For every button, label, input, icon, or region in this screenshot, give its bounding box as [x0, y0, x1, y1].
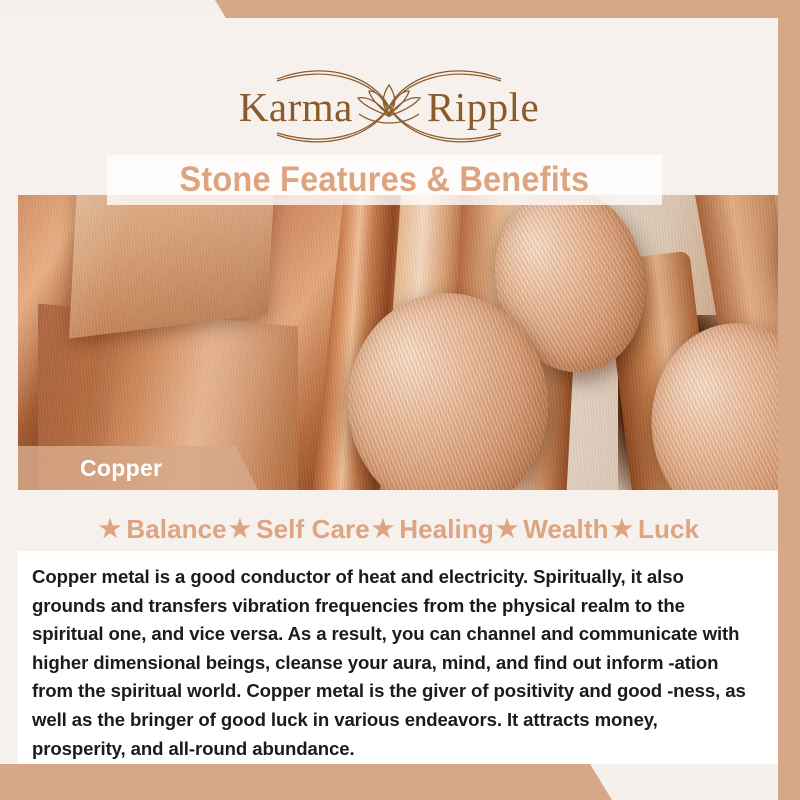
feature-label: Luck	[638, 514, 699, 545]
feature-item-balance: ★ Balance	[97, 514, 227, 545]
copper-rods-photo: Copper	[18, 195, 778, 490]
description-panel: Copper metal is a good conductor of heat…	[18, 551, 778, 764]
description-text: Copper metal is a good conductor of heat…	[32, 563, 756, 763]
page-title: Stone Features & Benefits	[180, 160, 590, 200]
page-title-banner: Stone Features & Benefits	[107, 155, 662, 205]
feature-label: Wealth	[523, 514, 608, 545]
feature-list: ★ Balance ★ Self Care ★ Healing ★ Wealth…	[18, 507, 778, 551]
feature-label: Self Care	[256, 514, 370, 545]
star-icon: ★	[99, 517, 121, 542]
star-icon: ★	[372, 517, 394, 542]
content-card: Karma Ripple Stone Features & Benefits	[0, 18, 778, 764]
star-icon: ★	[496, 517, 518, 542]
feature-label: Healing	[399, 514, 494, 545]
stone-name: Copper	[18, 455, 162, 482]
star-icon: ★	[611, 517, 633, 542]
brand-name-left: Karma	[239, 83, 353, 131]
star-icon: ★	[229, 517, 251, 542]
feature-item-luck: ★ Luck	[609, 514, 700, 545]
frame-band-bottom	[0, 764, 800, 800]
feature-item-self-care: ★ Self Care	[227, 514, 370, 545]
stone-name-label: Copper	[18, 446, 258, 490]
feature-item-healing: ★ Healing	[370, 514, 494, 545]
feature-label: Balance	[126, 514, 226, 545]
brand-name-right: Ripple	[427, 83, 539, 131]
brand-wordmark: Karma Ripple	[239, 83, 539, 131]
feature-item-wealth: ★ Wealth	[494, 514, 609, 545]
frame-band-right	[778, 0, 800, 800]
